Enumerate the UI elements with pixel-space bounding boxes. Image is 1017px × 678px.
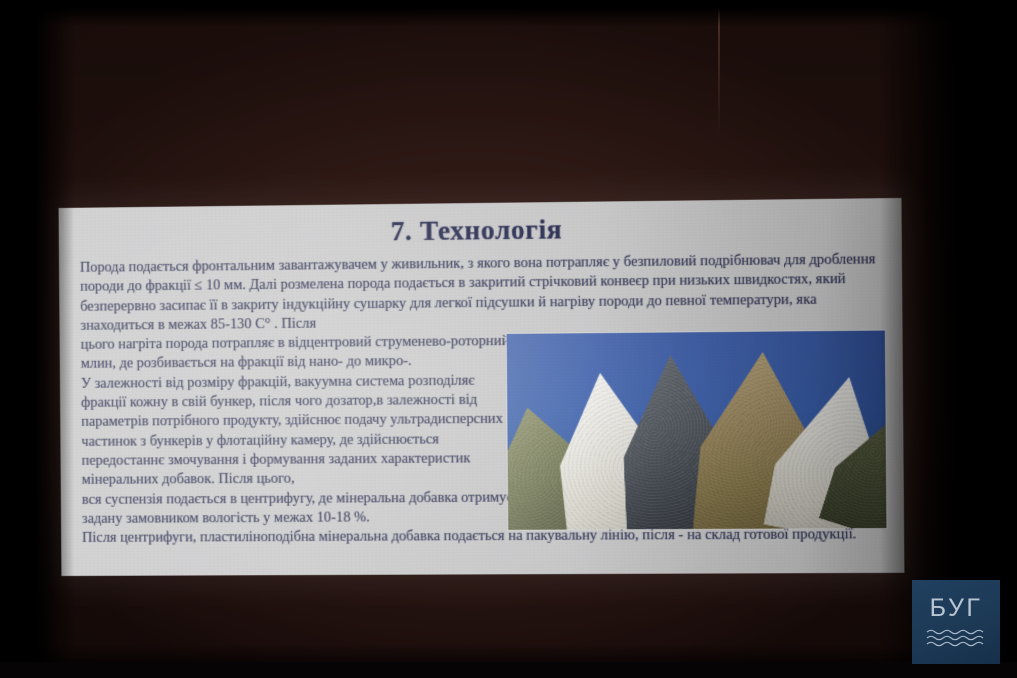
buh-logo-text: БУГ xyxy=(930,596,983,621)
projection-area: 7. Технологія Порода подається фронтальн… xyxy=(60,208,888,576)
slide-paragraph-2: цього нагріта порода потрапляє в відцент… xyxy=(81,332,516,375)
slide-paragraph-1: Порода подається фронтальним завантажува… xyxy=(80,250,885,336)
buh-watermark-logo: БУГ xyxy=(912,580,1000,664)
screenshot-stage: 7. Технологія Порода подається фронтальн… xyxy=(0,0,1017,678)
slide-title: 7. Технологія xyxy=(59,210,902,251)
waves-icon xyxy=(925,628,987,648)
slide-content: 7. Технологія Порода подається фронтальн… xyxy=(59,198,905,576)
presentation-slide: 7. Технологія Порода подається фронтальн… xyxy=(59,198,905,576)
slide-paragraph-4: вся суспензія подається в центрифугу, де… xyxy=(82,488,517,529)
wall-seam-line xyxy=(718,10,720,138)
slide-paragraph-3: У залежності від розміру фракцій, вакуум… xyxy=(81,371,516,490)
mineral-powder-samples-photo xyxy=(507,331,887,530)
foreground-dark-band xyxy=(0,662,1017,678)
